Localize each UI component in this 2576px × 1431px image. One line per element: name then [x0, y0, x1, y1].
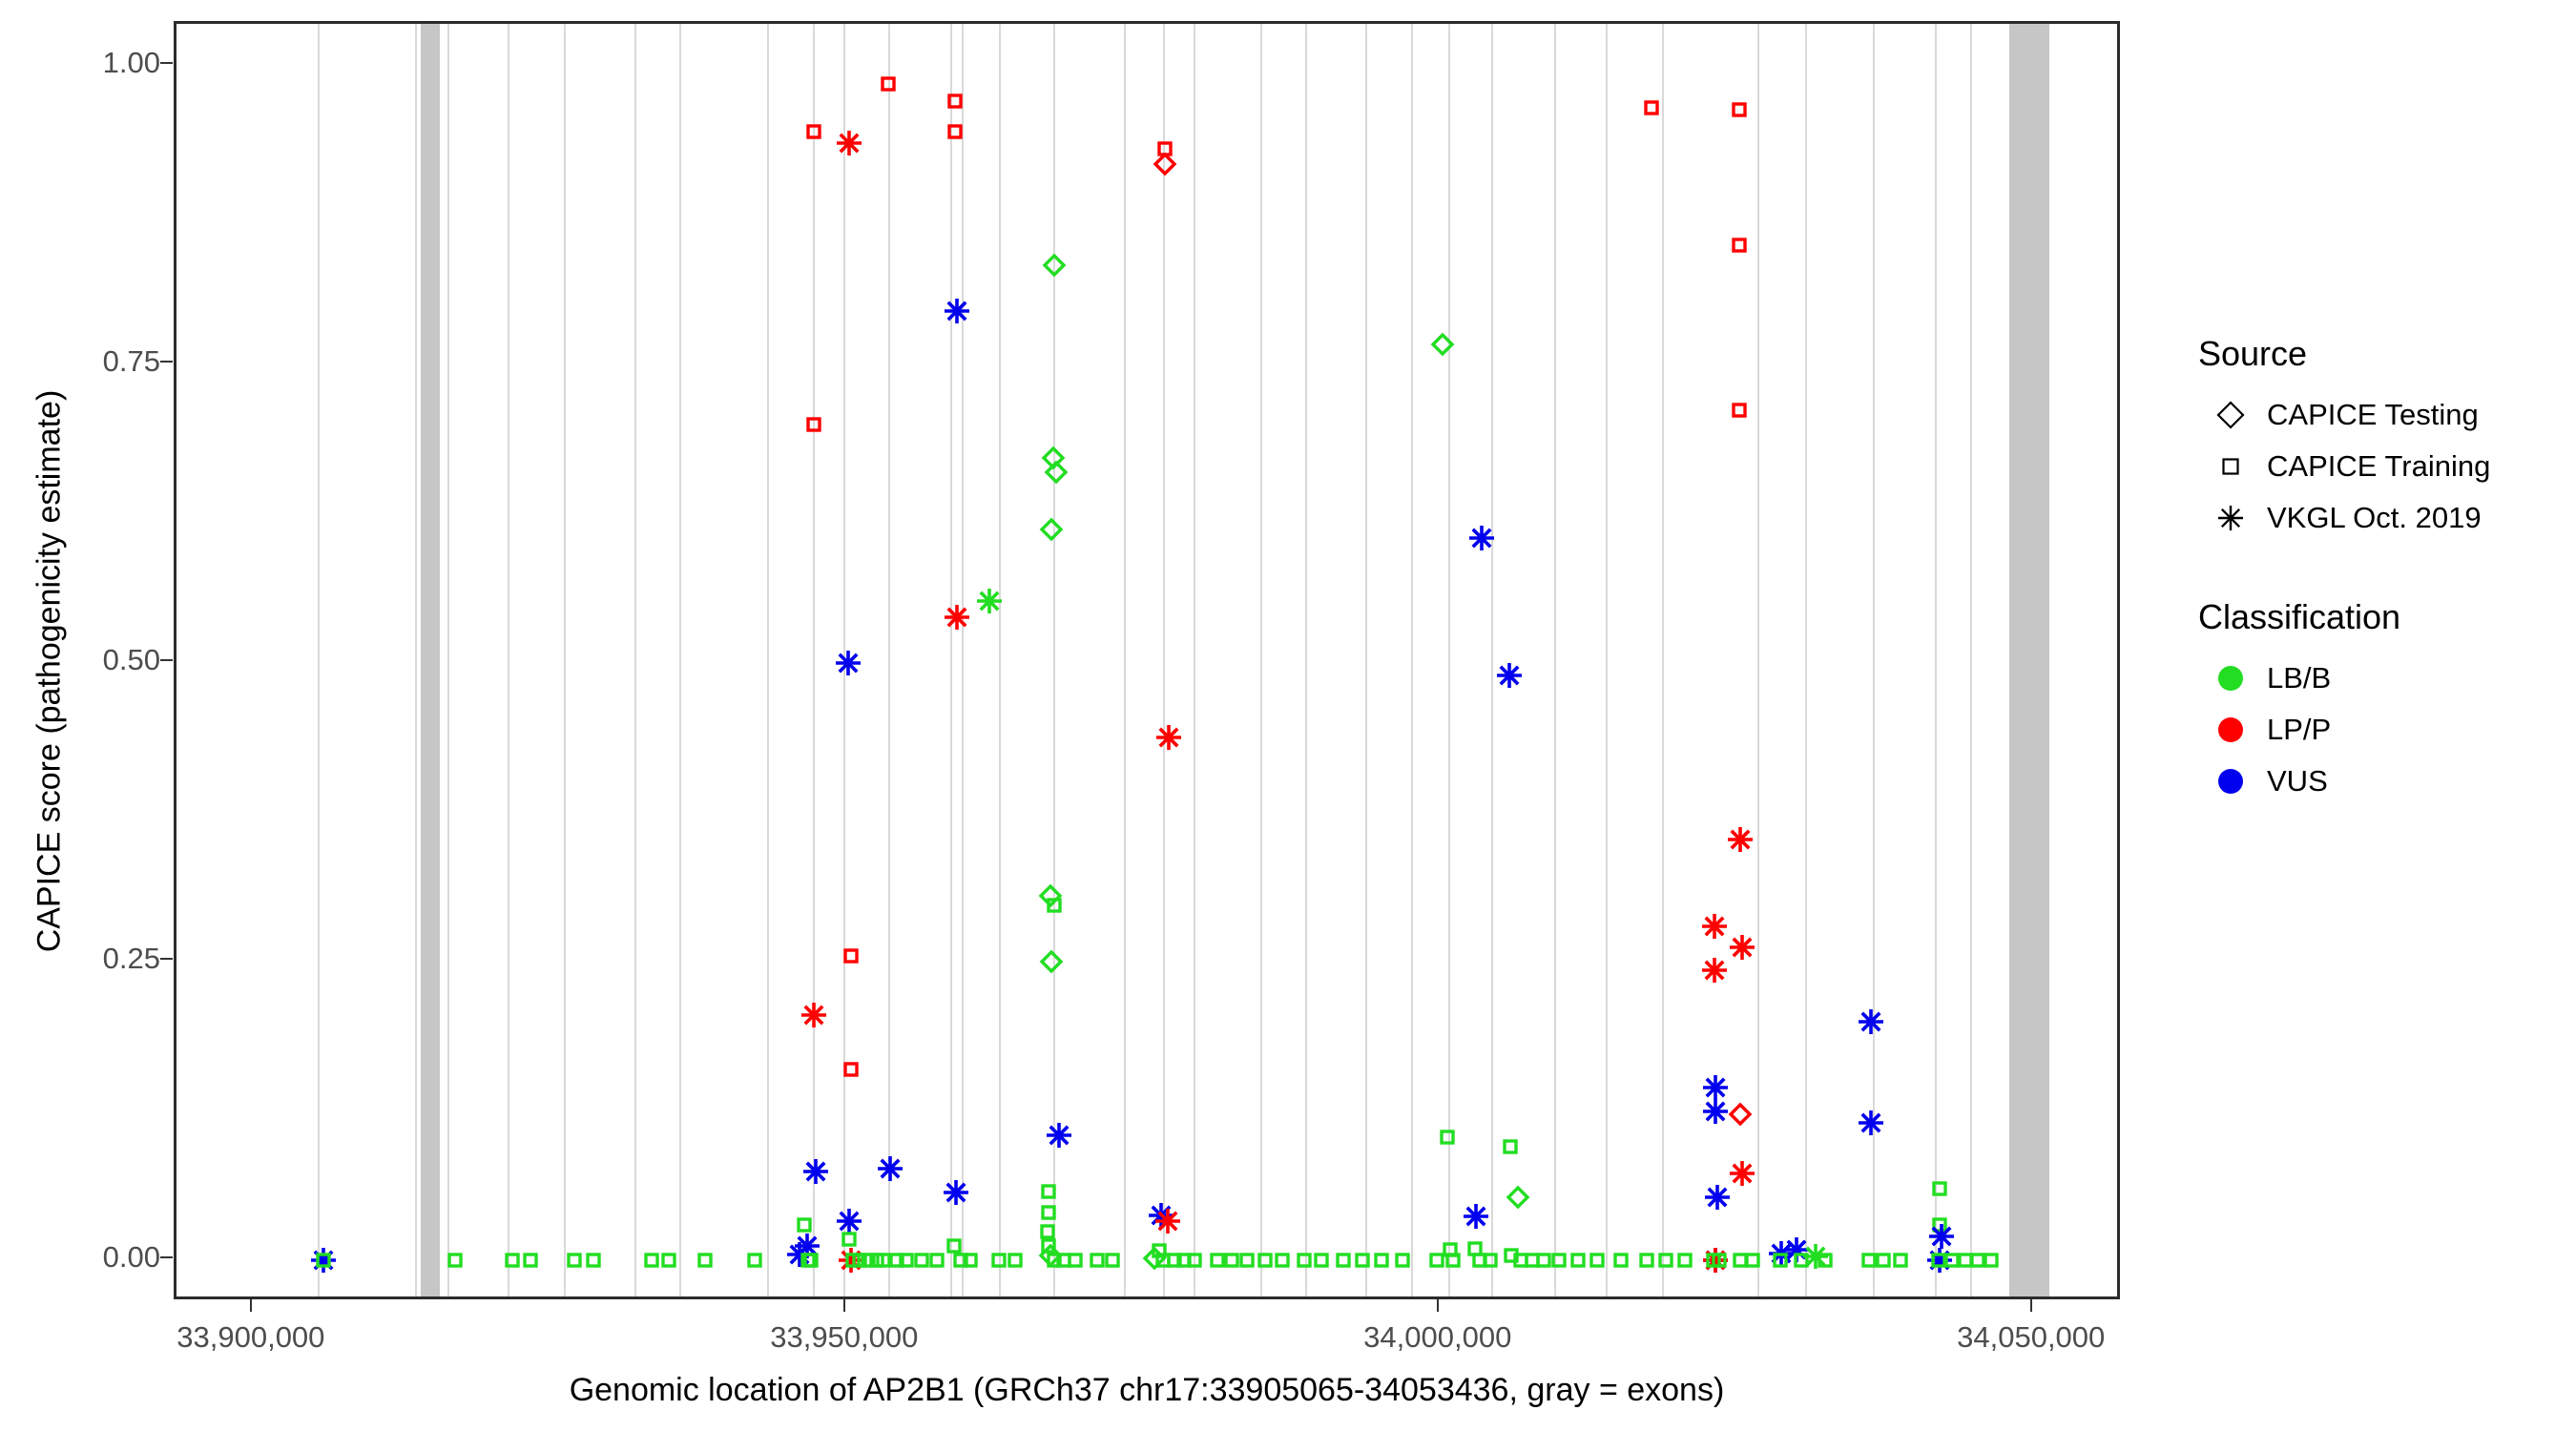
gridline — [634, 24, 636, 1296]
data-point — [941, 117, 969, 146]
data-point — [579, 1246, 608, 1275]
data-point — [1203, 1246, 1232, 1275]
legend-label: CAPICE Testing — [2267, 398, 2479, 432]
data-point — [797, 1246, 825, 1275]
data-point — [498, 1246, 527, 1275]
data-point — [1725, 231, 1754, 259]
data-point — [516, 1246, 545, 1275]
data-point — [1787, 1246, 1816, 1275]
data-point — [1726, 1246, 1755, 1275]
exon-band — [2009, 24, 2049, 1296]
y-tick-mark — [160, 1256, 173, 1258]
data-point — [801, 1157, 830, 1186]
data-point — [1857, 1007, 1885, 1036]
data-point — [956, 1246, 985, 1275]
gridline — [888, 24, 890, 1296]
data-point — [1699, 1246, 1728, 1275]
y-tick-mark — [160, 361, 173, 363]
data-point — [1705, 1246, 1734, 1275]
y-tick-mark — [160, 659, 173, 661]
data-point — [883, 1246, 911, 1275]
y-axis-ticks: 0.000.250.500.751.00 — [0, 0, 160, 1431]
y-tick-mark — [160, 62, 173, 64]
circle-icon — [2194, 769, 2267, 794]
data-point — [1725, 396, 1754, 425]
data-point — [907, 1246, 936, 1275]
data-point — [1701, 1246, 1730, 1275]
data-point — [1977, 1246, 2005, 1275]
y-tick-label: 1.00 — [17, 46, 160, 80]
data-point — [785, 1240, 814, 1269]
x-tick-label: 34,050,000 — [1957, 1320, 2105, 1355]
exon-band — [421, 24, 440, 1296]
legend-label: LB/B — [2267, 661, 2331, 695]
data-point — [1766, 1246, 1795, 1275]
diamond-outline-icon — [2194, 399, 2267, 431]
data-point — [1034, 1177, 1063, 1206]
data-point — [1496, 1132, 1525, 1161]
data-point — [1767, 1239, 1796, 1268]
gridline — [1124, 24, 1126, 1296]
legend-item-vus[interactable]: VUS — [2194, 756, 2557, 807]
legend-item-capice-testing[interactable]: CAPICE Testing — [2194, 389, 2557, 441]
data-point — [1034, 1198, 1063, 1227]
gridline — [1163, 24, 1165, 1296]
gridline — [1606, 24, 1608, 1296]
data-point — [1348, 1246, 1377, 1275]
x-axis-title: Genomic location of AP2B1 (GRCh37 chr17:… — [174, 1372, 2120, 1409]
data-point — [1042, 458, 1070, 487]
gridline — [1260, 24, 1262, 1296]
data-point — [1145, 1236, 1174, 1265]
data-point — [835, 1207, 863, 1235]
data-point — [1033, 1217, 1062, 1246]
gridline — [447, 24, 449, 1296]
plot-inner — [177, 24, 2117, 1296]
x-tick-label: 34,000,000 — [1363, 1320, 1511, 1355]
data-point — [1703, 1183, 1732, 1212]
data-point — [1462, 1202, 1490, 1231]
gridline — [508, 24, 509, 1296]
gridline — [1365, 24, 1367, 1296]
data-point — [1855, 1246, 1883, 1275]
data-point — [1268, 1246, 1297, 1275]
data-point — [1061, 1246, 1090, 1275]
data-point — [1564, 1246, 1592, 1275]
gridline — [1662, 24, 1664, 1296]
gridline — [1805, 24, 1807, 1296]
data-point — [1367, 1246, 1396, 1275]
legend: Source CAPICE Testing CAPICE Training VK… — [2194, 334, 2557, 807]
y-tick-label: 0.00 — [17, 1240, 160, 1275]
gridline — [415, 24, 417, 1296]
data-point — [1607, 1246, 1635, 1275]
data-point — [1147, 1201, 1175, 1230]
data-point — [1307, 1246, 1336, 1275]
data-point — [1433, 1123, 1462, 1151]
data-point — [1154, 723, 1183, 752]
data-point — [1504, 1183, 1532, 1212]
data-point — [1037, 515, 1066, 544]
data-point — [1001, 1246, 1029, 1275]
gridline — [564, 24, 566, 1296]
gridline — [999, 24, 1001, 1296]
data-point — [943, 603, 971, 632]
data-point — [1927, 1222, 1956, 1251]
gridline — [813, 24, 815, 1296]
gridline — [843, 24, 845, 1296]
asterisk-icon — [2194, 502, 2267, 534]
data-point — [1290, 1246, 1319, 1275]
data-point — [1037, 947, 1066, 976]
data-point — [691, 1246, 719, 1275]
legend-source-title: Source — [2198, 334, 2557, 374]
data-point — [941, 87, 969, 115]
data-point — [1701, 1097, 1730, 1126]
data-point — [837, 942, 865, 970]
gridline — [1935, 24, 1937, 1296]
data-point — [1428, 330, 1457, 359]
data-point — [1728, 1159, 1756, 1188]
data-point — [1461, 1234, 1489, 1263]
data-point — [1465, 1246, 1494, 1275]
chart-root: CAPICE score (pathogenicity estimate) 0.… — [0, 0, 2576, 1431]
legend-item-capice-training[interactable]: CAPICE Training — [2194, 441, 2557, 492]
data-point — [1938, 1246, 1966, 1275]
data-point — [1725, 95, 1754, 124]
gridline — [1053, 24, 1055, 1296]
data-point — [1036, 1241, 1065, 1270]
data-point — [1728, 933, 1756, 962]
data-point — [869, 1246, 898, 1275]
gridline — [1305, 24, 1307, 1296]
data-point — [1034, 1232, 1063, 1260]
data-point — [1857, 1109, 1885, 1137]
y-tick-label: 0.25 — [17, 942, 160, 976]
data-point — [1251, 1246, 1279, 1275]
x-tick-label: 33,950,000 — [770, 1320, 918, 1355]
data-point — [1217, 1246, 1246, 1275]
data-point — [1153, 1207, 1182, 1235]
data-point — [1738, 1246, 1767, 1275]
data-point — [1700, 912, 1729, 941]
legend-label: VUS — [2267, 764, 2328, 798]
legend-spacer — [2194, 544, 2557, 597]
square-outline-icon — [2194, 450, 2267, 483]
gridline — [679, 24, 681, 1296]
data-point — [309, 1246, 338, 1275]
data-point — [793, 1232, 821, 1260]
data-point — [1495, 661, 1524, 690]
data-point — [943, 297, 971, 325]
data-point — [1476, 1246, 1505, 1275]
data-point — [1701, 1073, 1730, 1102]
data-point — [1545, 1246, 1573, 1275]
data-point — [862, 1246, 891, 1275]
data-point — [1925, 1174, 1954, 1203]
data-point — [1700, 956, 1729, 985]
data-point — [835, 129, 863, 157]
plot-panel — [174, 21, 2120, 1299]
data-point — [854, 1246, 883, 1275]
data-point — [1151, 150, 1179, 178]
data-point — [637, 1246, 666, 1275]
data-point — [1701, 1246, 1730, 1275]
gridline — [767, 24, 769, 1296]
data-point — [1886, 1246, 1915, 1275]
gridline — [1448, 24, 1450, 1296]
gridline — [1554, 24, 1556, 1296]
data-point — [1233, 1246, 1261, 1275]
legend-label: LP/P — [2267, 713, 2331, 747]
data-point — [1925, 1246, 1954, 1275]
y-tick-label: 0.50 — [17, 643, 160, 677]
y-tick-mark — [160, 958, 173, 960]
x-tick-mark — [250, 1299, 252, 1312]
y-tick-label: 0.75 — [17, 344, 160, 379]
data-point — [740, 1246, 769, 1275]
data-point — [1497, 1241, 1526, 1270]
data-point — [845, 1246, 874, 1275]
data-point — [1671, 1246, 1699, 1275]
legend-item-lpp[interactable]: LP/P — [2194, 704, 2557, 756]
data-point — [1726, 825, 1755, 854]
data-point — [441, 1246, 469, 1275]
data-point — [892, 1246, 921, 1275]
gridline — [1757, 24, 1759, 1296]
data-point — [1951, 1246, 1980, 1275]
circle-icon — [2194, 717, 2267, 742]
data-point — [837, 1246, 865, 1275]
gridline — [318, 24, 320, 1296]
legend-item-vkgl[interactable]: VKGL Oct. 2019 — [2194, 492, 2557, 544]
data-point — [309, 1246, 338, 1275]
data-point — [1652, 1246, 1680, 1275]
legend-label: CAPICE Training — [2267, 449, 2490, 484]
data-point — [1439, 1246, 1467, 1275]
data-point — [1329, 1246, 1358, 1275]
data-point — [834, 649, 862, 677]
data-point — [1045, 1121, 1073, 1150]
gridline — [1491, 24, 1493, 1296]
x-tick-mark — [843, 1299, 845, 1312]
data-point — [794, 1246, 822, 1275]
data-point — [1151, 135, 1179, 163]
data-point — [1083, 1246, 1111, 1275]
x-tick-mark — [1437, 1299, 1439, 1312]
x-tick-label: 33,900,000 — [177, 1320, 324, 1355]
legend-item-lbb[interactable]: LB/B — [2194, 653, 2557, 704]
data-point — [1506, 1246, 1535, 1275]
data-point — [1924, 1246, 1953, 1275]
data-point — [1632, 1246, 1661, 1275]
data-point — [1036, 881, 1065, 910]
legend-classification-title: Classification — [2198, 597, 2557, 637]
data-point — [1963, 1246, 1992, 1275]
gridline — [962, 24, 964, 1296]
legend-label: VKGL Oct. 2019 — [2267, 501, 2482, 535]
data-point — [923, 1246, 951, 1275]
data-point — [837, 1055, 865, 1084]
data-point — [1811, 1246, 1839, 1275]
gridline — [1411, 24, 1413, 1296]
data-point — [942, 1178, 970, 1207]
gridline — [950, 24, 952, 1296]
data-point — [1726, 1100, 1755, 1129]
circle-icon — [2194, 666, 2267, 691]
data-point — [1925, 1211, 1954, 1239]
gridline — [1970, 24, 1972, 1296]
data-point — [835, 1225, 863, 1254]
gridline — [1873, 24, 1875, 1296]
x-tick-mark — [2030, 1299, 2032, 1312]
gridline — [1194, 24, 1195, 1296]
data-point — [1518, 1246, 1547, 1275]
data-point — [1423, 1246, 1451, 1275]
